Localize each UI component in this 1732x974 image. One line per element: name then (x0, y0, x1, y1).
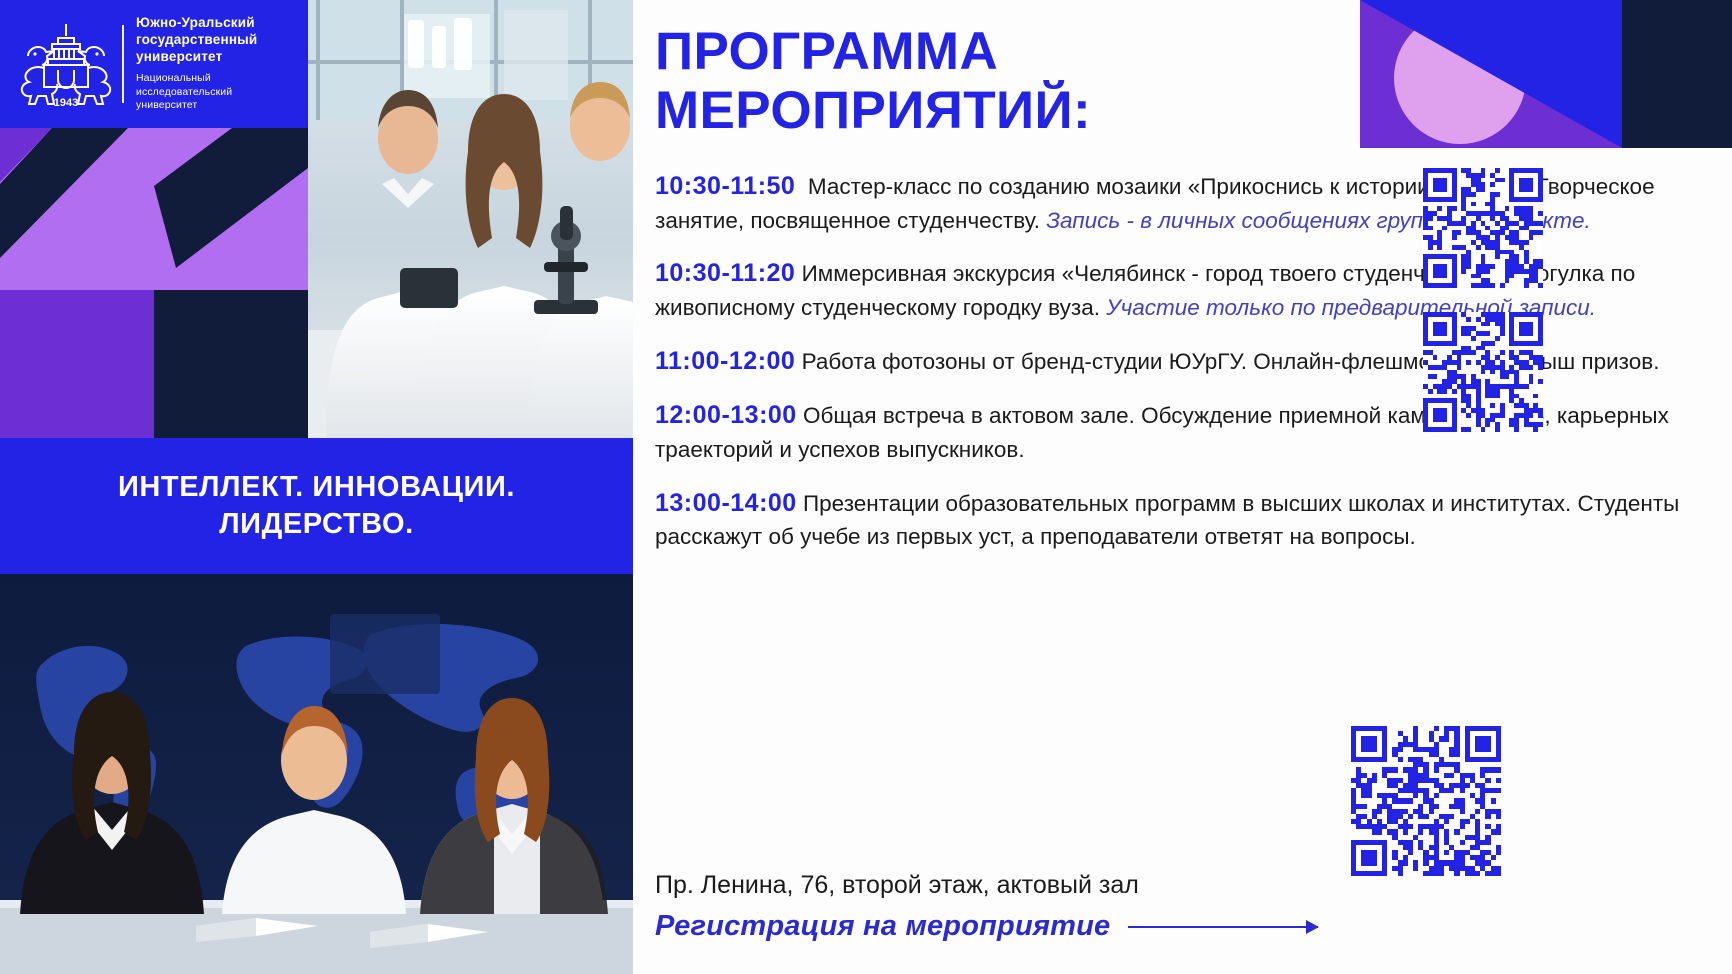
chevron-graphic (0, 128, 308, 290)
schedule-item: 13:00-14:00 Презентации образовательных … (655, 485, 1710, 554)
corner-decoration (1360, 0, 1732, 148)
logo-divider (122, 25, 124, 103)
left-visual-column: 1943 Южно-Уральский государственный унив… (0, 0, 633, 974)
qr-excursion[interactable] (1423, 312, 1543, 432)
slogan-line-1: ИНТЕЛЛЕКТ. ИННОВАЦИИ. (118, 471, 515, 503)
schedule-item: 12:00-13:00 Общая встреча в актовом зале… (655, 397, 1710, 466)
schedule-item-text: Презентации образовательных программ в в… (655, 491, 1679, 550)
schedule-item: 11:00-12:00 Работа фотозоны от бренд-сту… (655, 343, 1710, 380)
registration-label: Регистрация на мероприятие (655, 910, 1110, 943)
photo-students-world-map (0, 574, 633, 974)
schedule-item-time: 10:30-11:50 (655, 172, 795, 200)
page-title-line-1: ПРОГРАММА (655, 22, 1415, 81)
slogan-line-2: ЛИДЕРСТВО. (219, 508, 414, 540)
page-title-line-2: МЕРОПРИЯТИЙ: (655, 81, 1415, 140)
page-title: ПРОГРАММА МЕРОПРИЯТИЙ: (655, 22, 1415, 141)
logo-title-line-1: Южно-Уральский (136, 15, 257, 32)
photo-lab-students (308, 0, 633, 438)
logo-title-line-3: университет (136, 49, 257, 66)
schedule-item-time: 12:00-13:00 (655, 401, 797, 429)
schedule-item: 10:30-11:20 Иммерсивная экскурсия «Челяб… (655, 255, 1710, 324)
schedule-item-time: 13:00-14:00 (655, 489, 797, 517)
logo-subtitle-line-2: исследовательский (136, 86, 257, 99)
venue-address: Пр. Ленина, 76, второй этаж, актовый зал (655, 870, 1139, 901)
pattern-lilac-panel (0, 128, 308, 290)
pattern-navy-square (154, 290, 308, 438)
arrow-right-icon (1128, 926, 1318, 928)
program-content-column: ПРОГРАММА МЕРОПРИЯТИЙ: 10:30-11:50 Масте… (633, 0, 1732, 974)
schedule-item-time: 11:00-12:00 (655, 347, 795, 375)
schedule-item: 10:30-11:50 Мастер-класс по созданию моз… (655, 168, 1710, 237)
logo-title-line-2: государственный (136, 32, 257, 49)
registration-callout[interactable]: Регистрация на мероприятие (655, 910, 1318, 943)
schedule-list: 10:30-11:50 Мастер-класс по созданию моз… (655, 168, 1710, 572)
susu-crest-icon: 1943 (14, 18, 118, 110)
qr-masterclass[interactable] (1423, 168, 1543, 288)
logo-subtitle-line-1: Национальный (136, 72, 257, 85)
deco-navy-bar (1622, 0, 1732, 148)
event-program-poster: 1943 Южно-Уральский государственный унив… (0, 0, 1732, 974)
university-logo-band: 1943 Южно-Уральский государственный унив… (0, 0, 308, 128)
pattern-violet-square (0, 290, 154, 438)
qr-registration[interactable] (1351, 726, 1501, 876)
university-slogan-band: ИНТЕЛЛЕКТ. ИННОВАЦИИ. ЛИДЕРСТВО. (0, 438, 633, 574)
schedule-item-time: 10:30-11:20 (655, 259, 795, 287)
brand-pattern-block (0, 128, 308, 438)
crest-year-text: 1943 (54, 97, 78, 109)
logo-subtitle-line-3: университет (136, 99, 257, 112)
university-name-block: Южно-Уральский государственный университ… (136, 15, 257, 113)
